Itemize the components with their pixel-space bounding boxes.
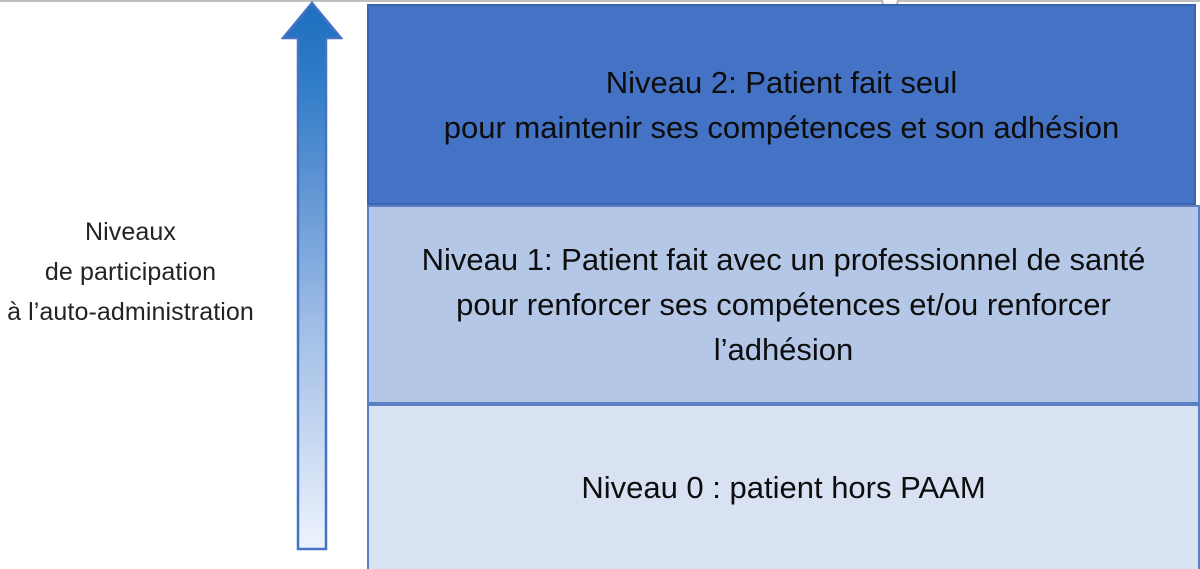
up-arrow-icon	[281, 1, 343, 551]
slide-top-border	[0, 0, 1200, 2]
level-1-line-3: l’adhésion	[422, 327, 1146, 372]
levels-stack: Niveau 2: Patient fait seul pour mainten…	[367, 4, 1200, 565]
level-1-line-1: Niveau 1: Patient fait avec un professio…	[422, 237, 1146, 282]
level-2-line-1: Niveau 2: Patient fait seul	[444, 60, 1120, 105]
axis-caption-line-2: de participation	[0, 252, 273, 292]
level-box-2[interactable]: Niveau 2: Patient fait seul pour mainten…	[367, 4, 1196, 205]
level-0-line-1: Niveau 0 : patient hors PAAM	[581, 465, 985, 510]
axis-caption-line-3: à l’auto-administration	[0, 292, 273, 332]
axis-caption-line-1: Niveaux	[0, 212, 273, 252]
level-2-line-2: pour maintenir ses compétences et son ad…	[444, 105, 1120, 150]
level-box-1[interactable]: Niveau 1: Patient fait avec un professio…	[367, 205, 1200, 404]
slide-canvas: Niveaux de participation à l’auto-admini…	[0, 0, 1200, 565]
level-box-0[interactable]: Niveau 0 : patient hors PAAM	[367, 404, 1200, 569]
level-1-line-2: pour renforcer ses compétences et/ou ren…	[422, 282, 1146, 327]
axis-caption: Niveaux de participation à l’auto-admini…	[0, 212, 273, 332]
